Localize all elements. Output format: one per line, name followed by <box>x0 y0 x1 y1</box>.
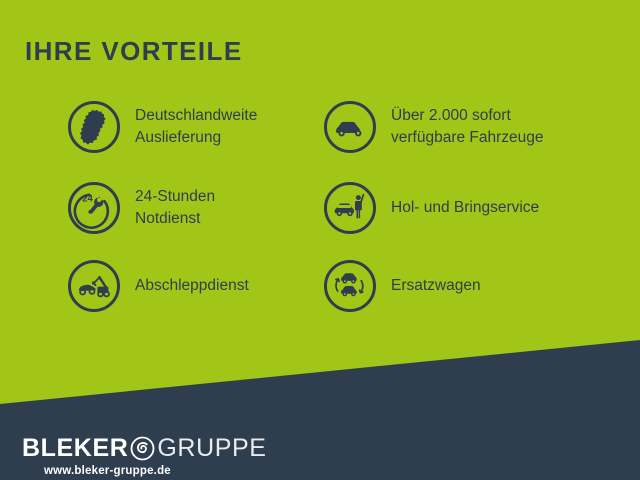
logo-name-light: GRUPPE <box>157 436 266 461</box>
car-with-person-icon <box>322 180 378 236</box>
clock-24h-wrench-icon: 24 <box>66 180 122 236</box>
car-icon <box>322 99 378 155</box>
benefit-label: 24-Stunden Notdienst <box>135 186 215 230</box>
benefit-label: Deutschlandweite Auslieferung <box>135 105 257 149</box>
benefit-label: Abschleppdienst <box>135 275 249 297</box>
logo-website-url: www.bleker-gruppe.de <box>44 465 267 477</box>
benefit-label: Über 2.000 sofort verfügbare Fahrzeuge <box>391 105 544 149</box>
tow-truck-icon <box>66 258 122 314</box>
benefit-label: Hol- und Bringservice <box>391 197 539 219</box>
benefit-label: Ersatzwagen <box>391 275 481 297</box>
svg-text:24: 24 <box>82 194 93 205</box>
germany-map-icon <box>66 99 122 155</box>
page-title: IHRE VORTEILE <box>25 38 243 64</box>
benefit-item-verfuegbare-fahrzeuge: Über 2.000 sofort verfügbare Fahrzeuge <box>322 99 544 155</box>
circle-swirl-icon <box>129 435 156 462</box>
company-logo: BLEKER GRUPPE www.bleker-gruppe.de <box>22 434 267 477</box>
benefit-item-deutschlandweite-auslieferung: Deutschlandweite Auslieferung <box>66 99 257 155</box>
logo-wordmark: BLEKER GRUPPE <box>22 434 267 462</box>
green-diagonal-panel <box>0 0 640 480</box>
slide-canvas: IHRE VORTEILE Deutschlandweite Ausliefer… <box>0 0 640 480</box>
two-cars-exchange-icon <box>322 258 378 314</box>
benefit-item-ersatzwagen: Ersatzwagen <box>322 258 481 314</box>
logo-name-bold: BLEKER <box>22 436 128 461</box>
benefit-item-abschleppdienst: Abschleppdienst <box>66 258 249 314</box>
benefit-item-24-stunden-notdienst: 24 24-Stunden Notdienst <box>66 180 215 236</box>
benefit-item-hol-und-bringservice: Hol- und Bringservice <box>322 180 539 236</box>
